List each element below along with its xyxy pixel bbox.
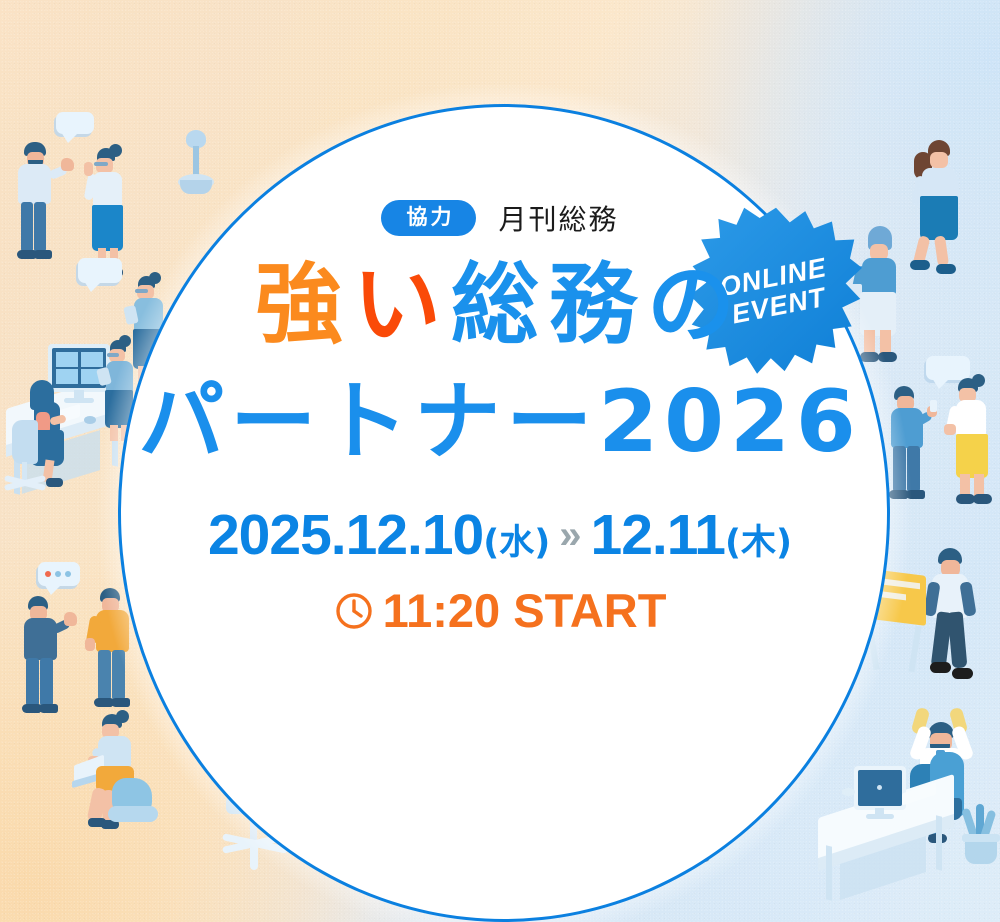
partner-name: 月刊総務 <box>498 198 618 238</box>
event-date-range: 2025.12.10(水)»12.11(木) <box>0 502 1000 568</box>
dow-start: (水) <box>483 523 550 563</box>
banner-content: 協力 月刊総務 強い総務の パートナー2026 2025.12.10(水)»12… <box>0 0 1000 922</box>
title-seg-strong: 強 <box>255 253 353 356</box>
date-end: 12.11 <box>591 503 726 567</box>
dow-end: (木) <box>725 523 792 563</box>
event-banner: ONLINE EVENT 協力 月刊総務 強い総務の パートナー2026 202… <box>0 0 1000 922</box>
start-time-label: 11:20 START <box>383 583 667 638</box>
event-title-line-1: 強い総務の <box>0 256 1000 355</box>
title-seg-soumu-no: 総務の <box>451 253 745 356</box>
cooperation-row: 協力 月刊総務 <box>0 198 1000 238</box>
date-separator-icon: » <box>550 513 590 557</box>
start-time-row: 11:20 START <box>0 583 1000 638</box>
event-title-line-2: パートナー2026 <box>0 374 1000 470</box>
cooperation-badge: 協力 <box>381 200 476 235</box>
date-start: 2025.12.10 <box>208 503 483 567</box>
title-seg-i: い <box>353 253 451 356</box>
clock-icon <box>334 591 374 631</box>
